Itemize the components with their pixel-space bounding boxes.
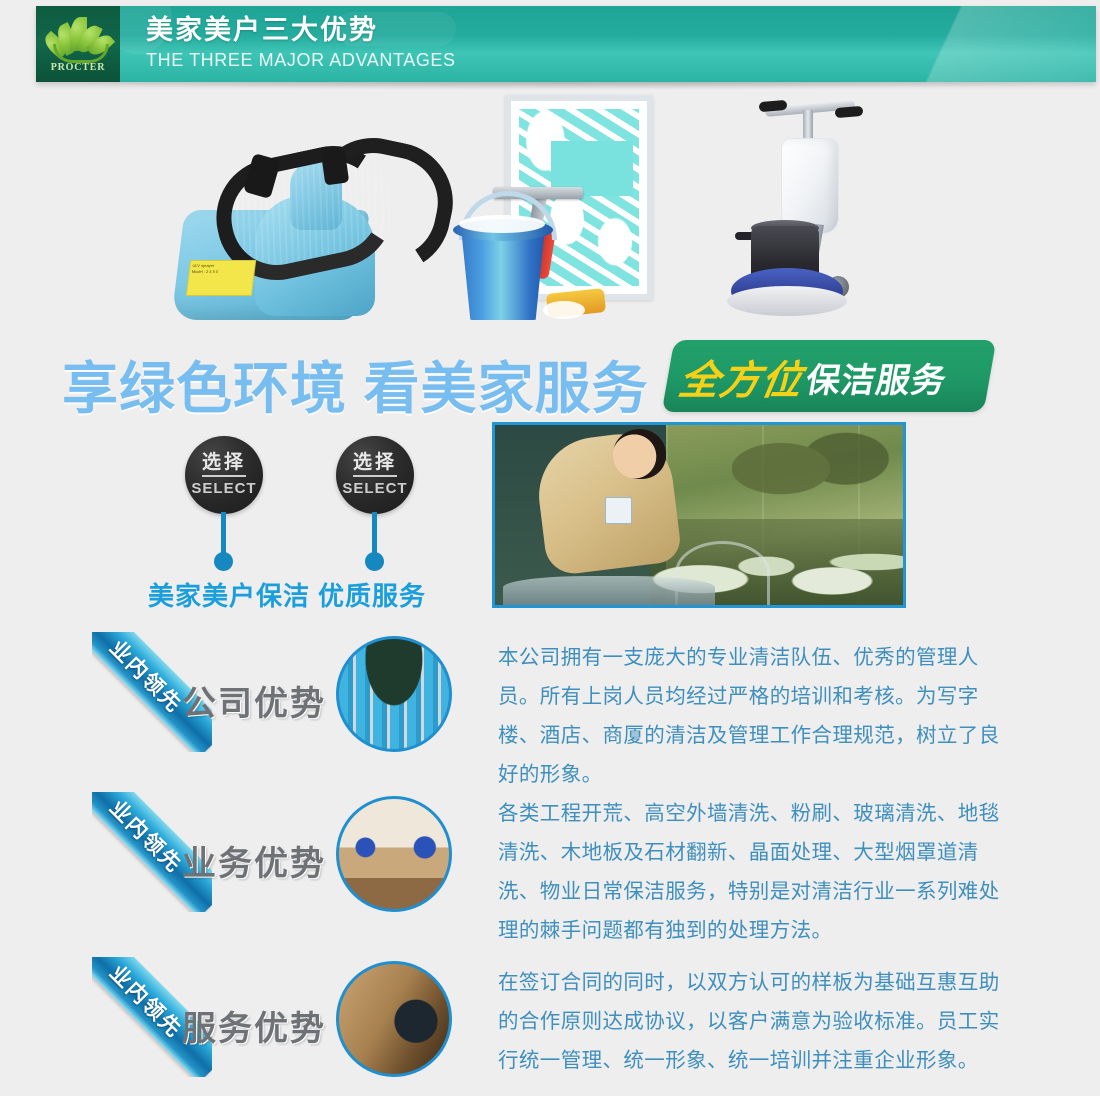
advantage-title-2: 业务优势 [182, 836, 326, 885]
select-circle-1-cn: 选择 [202, 453, 246, 477]
select-pin-stem-1 [221, 512, 226, 554]
company-logo: PROCTER [36, 6, 120, 82]
header-diagonal-shine [836, 6, 1096, 82]
ribbon-label-2: 业内领先 [104, 792, 190, 878]
window-squeegee-bucket-image [455, 95, 685, 340]
advantage-text-1: 本公司拥有一支庞大的专业清洁队伍、优秀的管理人员。所有上岗人员均经过严格的培训和… [498, 638, 1018, 794]
hero-headline: 享绿色环境 看美家服务 [62, 344, 649, 425]
select-circle-2[interactable]: 选择 SELECT [336, 436, 414, 514]
header-title-group: 美家美户三大优势 THE THREE MAJOR ADVANTAGES [146, 14, 456, 72]
ulv-sprayer-image: ULV sprayer Model : 2 4 5 0 [160, 100, 440, 335]
select-circle-2-en: SELECT [342, 480, 407, 497]
select-circle-1[interactable]: 选择 SELECT [185, 436, 263, 514]
select-label-2: 优质服务 [318, 576, 426, 613]
page-title-en: THE THREE MAJOR ADVANTAGES [146, 48, 456, 72]
floor-polisher-image [715, 90, 915, 335]
page-header-banner: PROCTER 美家美户三大优势 THE THREE MAJOR ADVANTA… [36, 6, 1096, 82]
advantage-thumb-3 [336, 961, 452, 1077]
advantage-title-3: 服务优势 [182, 1001, 326, 1050]
page-root: PROCTER 美家美户三大优势 THE THREE MAJOR ADVANTA… [0, 0, 1100, 1096]
select-pin-stem-2 [372, 512, 377, 554]
advantage-text-3: 在签订合同的同时，以双方认可的样板为基础互惠互助的合作原则达成协议，以客户满意为… [498, 963, 1018, 1080]
advantage-text-2: 各类工程开荒、高空外墙清洗、粉刷、玻璃清洗、地毯清洗、木地板及石材翻新、晶面处理… [498, 794, 1018, 950]
advantage-title-1: 公司优势 [182, 676, 326, 725]
service-badge: 全方位 保洁服务 [676, 352, 985, 402]
service-badge-text: 保洁服务 [803, 353, 952, 402]
ribbon-label-3: 业内领先 [104, 957, 190, 1043]
advantage-thumb-1 [336, 636, 452, 752]
select-pin-dot-2 [365, 552, 384, 571]
ribbon-label-1: 业内领先 [104, 632, 190, 718]
select-label-1: 美家美户保洁 [148, 576, 310, 613]
logo-wordmark: PROCTER [51, 62, 106, 73]
advantage-thumb-2 [336, 796, 452, 912]
select-circle-2-cn: 选择 [353, 453, 397, 477]
worker-cleaning-photo [492, 422, 906, 608]
sprayer-spec-label: ULV sprayer Model : 2 4 5 0 [186, 260, 256, 296]
select-circle-1-en: SELECT [191, 480, 256, 497]
leaf-crown-icon [47, 16, 109, 60]
header-drop-shadow [60, 82, 1070, 90]
footer-spacer [0, 1086, 1100, 1096]
page-title-cn: 美家美户三大优势 [146, 14, 456, 46]
select-pin-dot-1 [214, 552, 233, 571]
service-badge-highlight: 全方位 [675, 348, 808, 406]
